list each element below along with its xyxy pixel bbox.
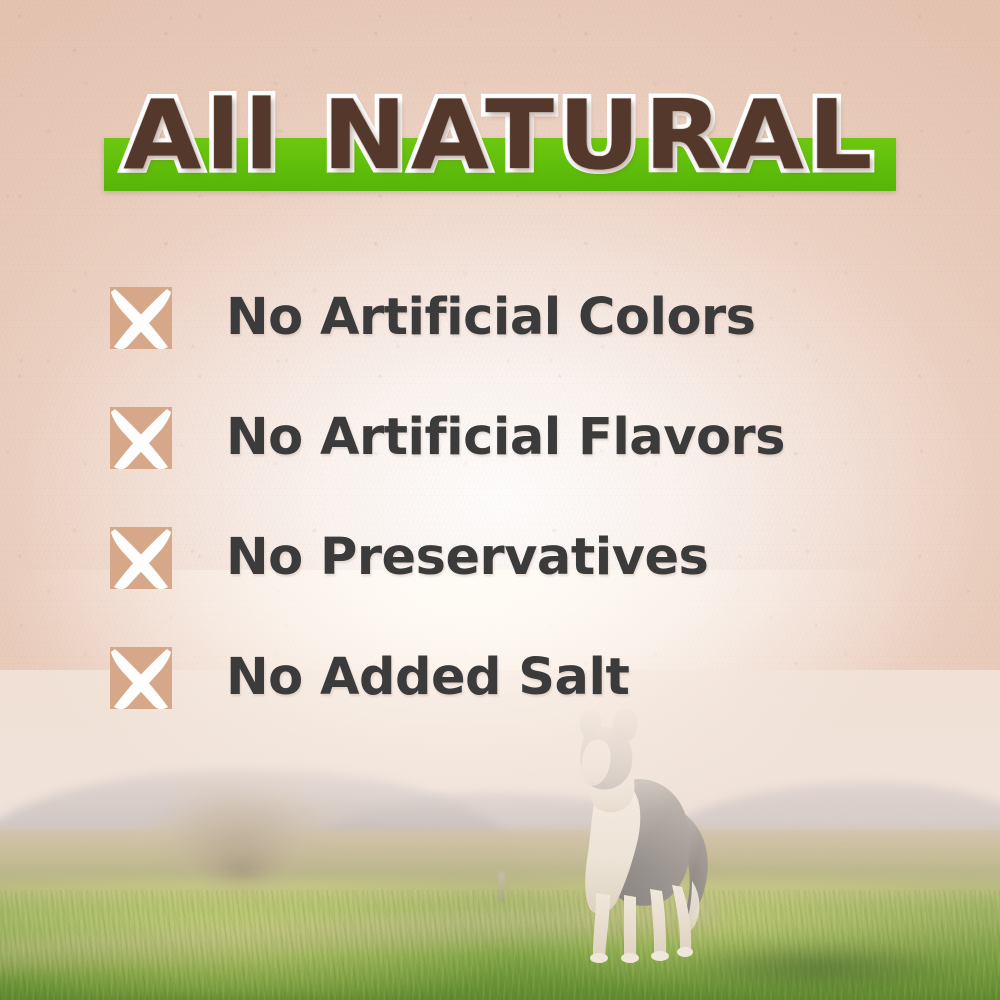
- banner: All NATURAL: [0, 78, 1000, 203]
- x-mark-icon: [110, 407, 172, 469]
- fence-post: [498, 872, 505, 902]
- list-item-label: No Preservatives: [226, 530, 708, 586]
- list-item: No Artificial Colors: [110, 258, 940, 378]
- product-feature-card: All NATURAL No Artificial Colors No Arti…: [0, 0, 1000, 1000]
- x-mark-icon: [110, 287, 172, 349]
- x-mark-icon: [110, 527, 172, 589]
- list-item: No Artificial Flavors: [110, 378, 940, 498]
- list-item-label: No Artificial Colors: [226, 290, 755, 346]
- feature-checklist: No Artificial Colors No Artificial Flavo…: [110, 258, 940, 738]
- page-title: All NATURAL: [0, 78, 1000, 194]
- list-item: No Added Salt: [110, 618, 940, 738]
- x-mark-icon: [110, 647, 172, 709]
- list-item-label: No Added Salt: [226, 650, 629, 706]
- list-item-label: No Artificial Flavors: [226, 410, 785, 466]
- list-item: No Preservatives: [110, 498, 940, 618]
